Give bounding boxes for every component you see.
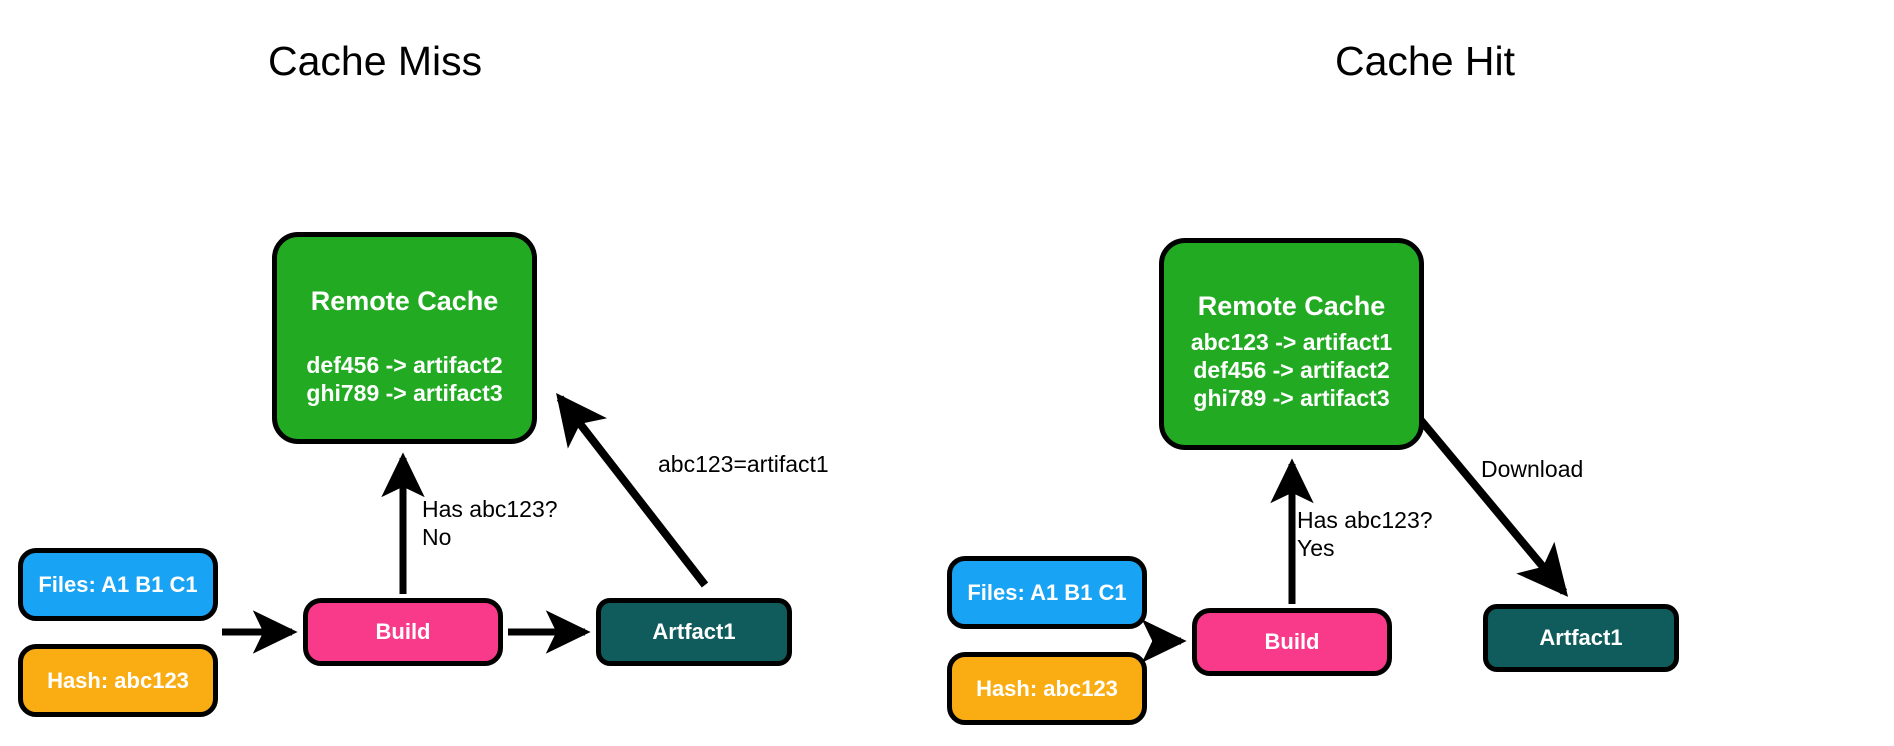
remote-cache-label: Remote Cache: [1198, 292, 1386, 322]
edge-label-cache-query: Has abc123? Yes: [1297, 506, 1433, 562]
cache-entry: abc123 -> artifact1: [1191, 328, 1392, 356]
node-artifact[interactable]: Artfact1: [1483, 604, 1679, 672]
node-artifact-label: Artfact1: [652, 619, 735, 645]
node-remote-cache[interactable]: Remote Cache abc123 -> artifact1 def456 …: [1159, 238, 1424, 450]
node-build-label: Build: [1265, 629, 1320, 655]
node-artifact-label: Artfact1: [1539, 625, 1622, 651]
remote-cache-label: Remote Cache: [311, 287, 499, 317]
panel-cache-miss: Cache Miss Remote Cache def456 -> artifa…: [0, 0, 947, 746]
page-title-cache-hit: Cache Hit: [1335, 38, 1515, 85]
node-remote-cache[interactable]: Remote Cache def456 -> artifact2 ghi789 …: [272, 232, 537, 444]
node-build-label: Build: [376, 619, 431, 645]
node-artifact[interactable]: Artfact1: [596, 598, 792, 666]
node-build[interactable]: Build: [1192, 608, 1392, 676]
page-title-cache-miss: Cache Miss: [268, 38, 482, 85]
cache-entry: ghi789 -> artifact3: [306, 379, 502, 407]
node-files-label: Files: A1 B1 C1: [38, 572, 197, 598]
edge-cache-to-artifact-download: [1404, 400, 1564, 592]
node-hash-label: Hash: abc123: [47, 668, 189, 694]
edge-artifact-to-cache-store: [560, 398, 705, 585]
node-files-label: Files: A1 B1 C1: [967, 580, 1126, 606]
cache-entry: def456 -> artifact2: [1193, 356, 1389, 384]
node-hash-label: Hash: abc123: [976, 676, 1118, 702]
cache-entry: ghi789 -> artifact3: [1193, 384, 1389, 412]
node-files[interactable]: Files: A1 B1 C1: [947, 556, 1147, 629]
node-hash[interactable]: Hash: abc123: [947, 652, 1147, 725]
edge-label-cache-query: Has abc123? No: [422, 495, 558, 551]
edge-label-cache-store: abc123=artifact1: [658, 450, 829, 478]
panel-cache-hit: Cache Hit Remote Cache abc123 -> artifac…: [947, 0, 1894, 746]
cache-entry: def456 -> artifact2: [306, 351, 502, 379]
node-hash[interactable]: Hash: abc123: [18, 644, 218, 717]
node-build[interactable]: Build: [303, 598, 503, 666]
edge-label-download: Download: [1481, 455, 1583, 483]
node-files[interactable]: Files: A1 B1 C1: [18, 548, 218, 621]
diagram-canvas: Cache Miss Remote Cache def456 -> artifa…: [0, 0, 1894, 746]
